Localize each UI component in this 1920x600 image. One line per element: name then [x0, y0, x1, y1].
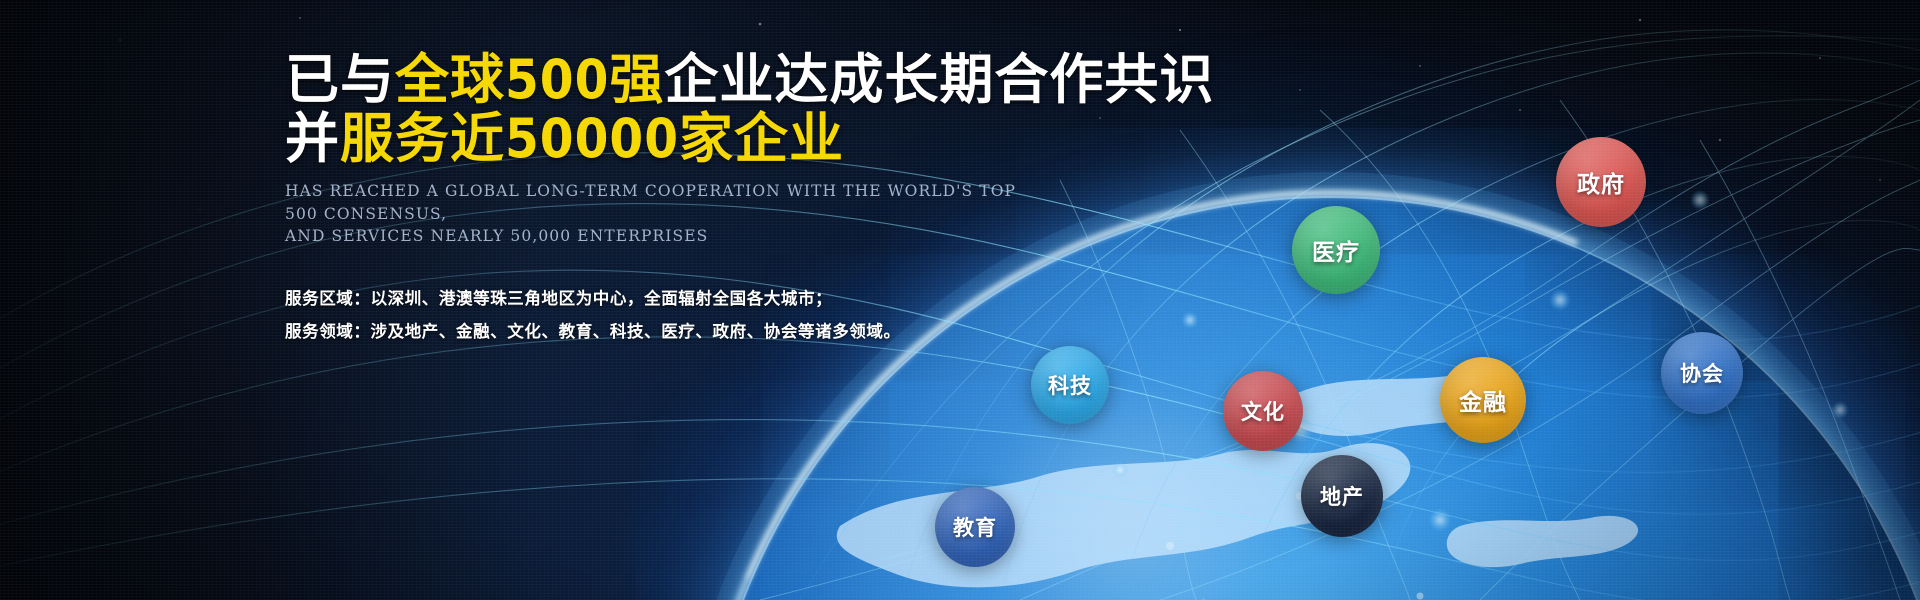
industry-badge[interactable]: 教育	[935, 487, 1015, 567]
industry-badge[interactable]: 协会	[1661, 332, 1743, 414]
headline: 已与全球500强企业达成长期合作共识 并服务近50000家企业	[285, 52, 1045, 166]
headline-seg-1b: 全球500强	[395, 48, 664, 111]
industry-badge[interactable]: 科技	[1031, 346, 1109, 424]
headline-seg-1a: 已与	[285, 48, 395, 111]
headline-seg-1c: 企业达成长期合作共识	[664, 48, 1214, 111]
industry-badge-label: 协会	[1680, 358, 1724, 388]
industry-badge[interactable]: 文化	[1223, 371, 1303, 451]
industry-badge[interactable]: 地产	[1301, 455, 1383, 537]
headline-line-1: 已与全球500强企业达成长期合作共识	[285, 52, 1045, 107]
industry-badge-label: 医疗	[1312, 233, 1360, 267]
industry-badge[interactable]: 政府	[1556, 137, 1646, 227]
industry-badge-label: 文化	[1241, 396, 1285, 426]
headline-seg-2b: 服务近50000家企业	[340, 107, 844, 170]
industry-badge-label: 地产	[1320, 481, 1364, 511]
english-line-1: HAS REACHED A GLOBAL LONG-TERM COOPERATI…	[285, 180, 1045, 225]
copy-block: 已与全球500强企业达成长期合作共识 并服务近50000家企业 HAS REAC…	[285, 52, 1045, 348]
description-line-service-area: 服务区域：以深圳、港澳等珠三角地区为中心，全面辐射全国各大城市；	[285, 282, 1045, 315]
promo-banner: 已与全球500强企业达成长期合作共识 并服务近50000家企业 HAS REAC…	[0, 0, 1920, 600]
description-line-service-fields: 服务领域：涉及地产、金融、文化、教育、科技、医疗、政府、协会等诸多领域。	[285, 315, 1045, 348]
industry-badge[interactable]: 金融	[1440, 357, 1526, 443]
headline-seg-2a: 并	[285, 107, 340, 170]
industry-badge-label: 教育	[953, 512, 997, 542]
description-block: 服务区域：以深圳、港澳等珠三角地区为中心，全面辐射全国各大城市； 服务领域：涉及…	[285, 282, 1045, 348]
english-line-2: AND SERVICES NEARLY 50,000 ENTERPRISES	[285, 225, 1045, 247]
headline-line-2: 并服务近50000家企业	[285, 111, 1045, 166]
industry-badge-label: 政府	[1577, 165, 1625, 199]
industry-badge-label: 科技	[1048, 370, 1092, 400]
industry-badge-label: 金融	[1459, 383, 1507, 417]
industry-badge[interactable]: 医疗	[1292, 206, 1380, 294]
english-subtitle: HAS REACHED A GLOBAL LONG-TERM COOPERATI…	[285, 180, 1045, 247]
